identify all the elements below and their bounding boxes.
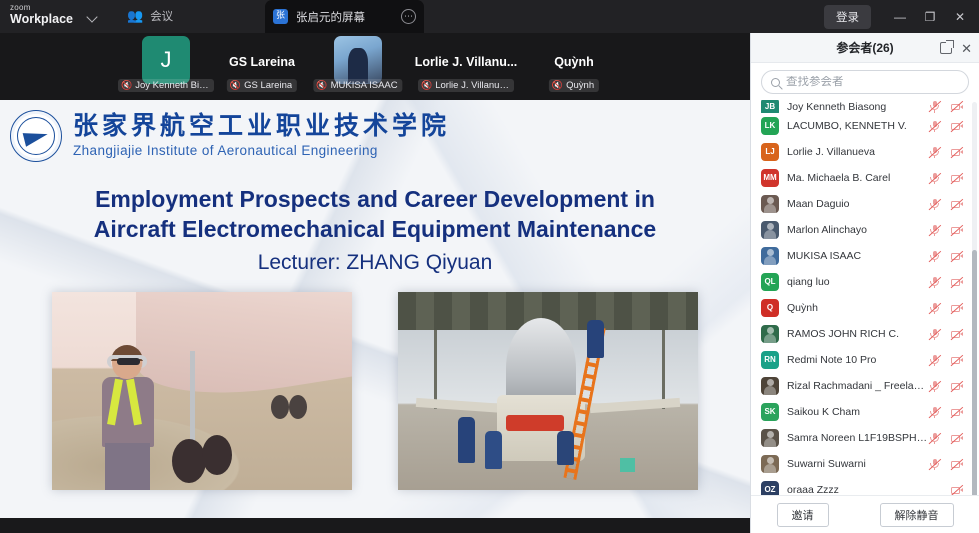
participant-status-icons	[928, 100, 971, 113]
participant-status-icons	[928, 302, 971, 315]
participant-status-icons	[950, 484, 971, 496]
microphone-muted-icon: 🔇	[230, 81, 241, 90]
worker-legs	[105, 443, 150, 490]
participant-name: MUKISA ISAAC	[331, 80, 398, 91]
participant-status-icons	[928, 120, 971, 133]
participant-name: Samra Noreen L1F19BSPH0007	[787, 432, 928, 444]
participants-panel-footer: 邀请 解除静音	[751, 495, 979, 533]
list-item[interactable]: MM Ma. Michaela B. Carel	[751, 165, 979, 191]
camera-off-icon[interactable]	[950, 198, 963, 211]
participant-name: LACUMBO, KENNETH V.	[787, 120, 928, 132]
list-item[interactable]: Rizal Rachmadani _ Freelance	[751, 373, 979, 399]
microphone-muted-icon[interactable]	[928, 458, 941, 471]
slide-header: 张家界航空工业职业技术学院 Zhangjiajie Institute of A…	[10, 110, 450, 162]
participant-name: qiang luo	[787, 276, 928, 288]
brand-top-label: zoom	[10, 4, 73, 12]
participant-display-name: Lorlie J. Villanu...	[408, 55, 524, 69]
technician	[485, 431, 502, 469]
camera-off-icon[interactable]	[950, 328, 963, 341]
participant-status-icons	[928, 432, 971, 445]
wheel	[289, 395, 307, 419]
participant-display-name: Quỳnh	[528, 55, 620, 69]
brand-bottom-label: Workplace	[10, 13, 73, 26]
technician	[557, 431, 574, 465]
name-tag: 🔇 GS Lareina	[227, 79, 297, 92]
list-item[interactable]: MUKISA ISAAC	[751, 243, 979, 269]
camera-off-icon[interactable]	[950, 380, 963, 393]
microphone-muted-icon[interactable]	[928, 172, 941, 185]
participant-name: Quỳnh	[566, 80, 594, 91]
hangar-beam	[434, 330, 437, 409]
camera-off-icon[interactable]	[950, 172, 963, 185]
slide-photos	[0, 292, 750, 490]
microphone-muted-icon[interactable]	[928, 406, 941, 419]
participant-name: MUKISA ISAAC	[787, 250, 928, 262]
share-tab-label: 张启元的屏幕	[296, 9, 401, 25]
technician	[587, 320, 604, 358]
video-tile[interactable]: Lorlie J. Villanu... 🔇 Lorlie J. Villanu…	[408, 33, 524, 95]
shared-screen-slide: 张家界航空工业职业技术学院 Zhangjiajie Institute of A…	[0, 100, 750, 518]
camera-off-icon[interactable]	[950, 224, 963, 237]
school-name-english: Zhangjiajie Institute of Aeronautical En…	[73, 143, 450, 158]
video-tile[interactable]: 🔇 MUKISA ISAAC	[312, 33, 404, 95]
avatar	[761, 455, 779, 473]
list-item[interactable]: SK Saikou K Cham	[751, 399, 979, 425]
participants-search-wrapper	[751, 63, 979, 100]
participant-name: Lorlie J. Villanueva	[787, 146, 928, 158]
minimize-icon[interactable]: —	[885, 0, 915, 33]
microphone-muted-icon[interactable]	[928, 120, 941, 133]
microphone-muted-icon[interactable]	[928, 100, 941, 113]
name-tag: 🔇 MUKISA ISAAC	[313, 79, 402, 92]
avatar	[761, 221, 779, 239]
participants-panel: 参会者(26) ✕ JB Joy Kenneth Biasong	[750, 33, 979, 533]
search-input[interactable]	[786, 76, 959, 88]
participants-search-box[interactable]	[761, 70, 969, 94]
avatar: J	[142, 36, 190, 84]
invite-button[interactable]: 邀请	[777, 503, 829, 527]
school-name-chinese: 张家界航空工业职业技术学院	[73, 114, 450, 140]
camera-off-icon[interactable]	[950, 146, 963, 159]
titlebar-right: 登录 — ❐ ✕	[824, 0, 979, 33]
camera-off-icon[interactable]	[950, 484, 963, 496]
avatar: QL	[761, 273, 779, 291]
school-seal-logo-icon	[10, 110, 62, 162]
participant-status-icons	[928, 224, 971, 237]
participants-panel-header: 参会者(26) ✕	[751, 33, 979, 63]
zoom-meeting-window: zoom Workplace 👥 会议 张 张启元的屏幕 ⋯ 登录 — ❐ ✕ …	[0, 0, 979, 533]
microphone-muted-icon[interactable]	[928, 146, 941, 159]
microphone-muted-icon: 🔇	[421, 81, 432, 90]
participant-name: Saikou K Cham	[787, 406, 928, 418]
slide-title-line1: Employment Prospects and Career Developm…	[0, 184, 750, 214]
camera-off-icon[interactable]	[950, 354, 963, 367]
participant-name: Quỳnh	[787, 302, 928, 314]
wheel	[271, 395, 289, 419]
participant-name: Suwarni Suwarni	[787, 458, 928, 470]
list-item[interactable]: Samra Noreen L1F19BSPH0007	[751, 425, 979, 451]
aircraft-ground-crew-photo	[52, 292, 352, 490]
avatar	[761, 247, 779, 265]
camera-off-icon[interactable]	[950, 120, 963, 133]
microphone-muted-icon[interactable]	[928, 224, 941, 237]
video-tile[interactable]: J 🔇 Joy Kenneth Biasong	[120, 33, 212, 95]
close-icon[interactable]: ✕	[945, 0, 975, 33]
video-tiles: J 🔇 Joy Kenneth Biasong GS Lareina 🔇 GS …	[0, 33, 750, 100]
camera-off-icon[interactable]	[950, 458, 963, 471]
list-item[interactable]: RN Redmi Note 10 Pro	[751, 347, 979, 373]
participant-status-icons	[928, 198, 971, 211]
participant-name: Lorlie J. Villanueva	[435, 80, 509, 91]
participant-name: Rizal Rachmadani _ Freelance	[787, 380, 928, 392]
airplane-underside	[136, 292, 352, 411]
list-item[interactable]: LJ Lorlie J. Villanueva	[751, 139, 979, 165]
microphone-muted-icon[interactable]	[928, 432, 941, 445]
participant-name: Joy Kenneth Biasong	[135, 80, 209, 91]
slide-lecturer: Lecturer: ZHANG Qiyuan	[0, 247, 750, 279]
microphone-muted-icon[interactable]	[928, 354, 941, 367]
participant-status-icons	[928, 328, 971, 341]
participant-name: Marlon Alinchayo	[787, 224, 928, 236]
microphone-muted-icon: 🔇	[316, 81, 327, 90]
more-horizontal-icon[interactable]: ⋯	[401, 9, 416, 24]
participant-name: GS Lareina	[244, 80, 292, 91]
participant-display-name: GS Lareina	[216, 55, 308, 69]
participant-status-icons	[928, 458, 971, 471]
participant-name: Joy Kenneth Biasong	[787, 101, 928, 113]
titlebar-left: zoom Workplace 👥 会议	[0, 0, 173, 33]
avatar	[761, 429, 779, 447]
panel-header-icons: ✕	[940, 33, 972, 63]
avatar: JB	[761, 100, 779, 113]
camera-off-icon[interactable]	[950, 250, 963, 263]
technician	[458, 417, 475, 463]
people-group-icon: 👥	[127, 9, 143, 22]
list-item[interactable]: OZ oraaa Zzzz	[751, 477, 979, 495]
jet-red-panel	[506, 415, 564, 431]
microphone-muted-icon[interactable]	[928, 276, 941, 289]
microphone-muted-icon[interactable]	[928, 380, 941, 393]
hangar-beam	[662, 330, 665, 409]
jet-wing-right	[590, 398, 680, 413]
participant-name: RAMOS JOHN RICH C.	[787, 328, 928, 340]
avatar: OZ	[761, 481, 779, 495]
participant-status-icons	[928, 172, 971, 185]
participant-status-icons	[928, 354, 971, 367]
participant-video-thumbnail	[334, 36, 382, 84]
name-tag: 🔇 Lorlie J. Villanueva	[418, 79, 514, 92]
school-name-block: 张家界航空工业职业技术学院 Zhangjiajie Institute of A…	[73, 114, 450, 158]
share-tab-favicon: 张	[273, 9, 288, 24]
avatar	[761, 325, 779, 343]
slide-title: Employment Prospects and Career Developm…	[0, 184, 750, 278]
avatar	[761, 377, 779, 395]
wheel	[202, 435, 232, 475]
camera-off-icon[interactable]	[950, 432, 963, 445]
microphone-muted-icon[interactable]	[928, 250, 941, 263]
list-item[interactable]: QL qiang luo	[751, 269, 979, 295]
microphone-muted-icon[interactable]	[928, 328, 941, 341]
participants-list[interactable]: JB Joy Kenneth Biasong LK LACUMBO, KENNE…	[751, 100, 979, 495]
participant-status-icons	[928, 146, 971, 159]
avatar: MM	[761, 169, 779, 187]
camera-off-icon[interactable]	[950, 100, 963, 113]
close-icon[interactable]: ✕	[961, 42, 972, 55]
video-thumbnail-strip: J 🔇 Joy Kenneth Biasong GS Lareina 🔇 GS …	[0, 33, 750, 100]
list-item[interactable]: Q Quỳnh	[751, 295, 979, 321]
video-tile[interactable]: Quỳnh 🔇 Quỳnh	[528, 33, 620, 95]
list-item[interactable]: Suwarni Suwarni	[751, 451, 979, 477]
avatar: Q	[761, 299, 779, 317]
ground-crew-worker	[94, 347, 164, 486]
chevron-down-icon[interactable]	[87, 11, 99, 23]
avatar: RN	[761, 351, 779, 369]
screen-share-tab[interactable]: 张 张启元的屏幕 ⋯	[265, 0, 424, 33]
meetings-nav-item[interactable]: 👥 会议	[127, 8, 173, 26]
search-icon	[771, 78, 780, 87]
participants-scrollbar-thumb[interactable]	[972, 250, 977, 495]
avatar: LJ	[761, 143, 779, 161]
popout-icon[interactable]	[940, 42, 952, 54]
list-item[interactable]: JB Joy Kenneth Biasong	[751, 100, 979, 113]
title-bar: zoom Workplace 👥 会议 张 张启元的屏幕 ⋯ 登录 — ❐ ✕	[0, 0, 979, 33]
slide-title-line2: Aircraft Electromechanical Equipment Mai…	[0, 214, 750, 244]
participant-name: oraaa Zzzz	[787, 484, 950, 495]
camera-off-icon[interactable]	[950, 302, 963, 315]
bottom-letterbox	[0, 518, 750, 533]
green-stool	[620, 458, 635, 472]
list-item[interactable]: Maan Daguio	[751, 191, 979, 217]
unmute-button[interactable]: 解除静音	[880, 503, 954, 527]
participant-name: Redmi Note 10 Pro	[787, 354, 928, 366]
microphone-muted-icon: 🔇	[121, 81, 132, 90]
list-item[interactable]: Marlon Alinchayo	[751, 217, 979, 243]
jet-wing-left	[416, 398, 506, 413]
participant-name: Maan Daguio	[787, 198, 928, 210]
avatar: SK	[761, 403, 779, 421]
login-button[interactable]: 登录	[824, 5, 871, 29]
list-item[interactable]: LK LACUMBO, KENNETH V.	[751, 113, 979, 139]
name-tag: 🔇 Joy Kenneth Biasong	[118, 79, 214, 92]
participant-status-icons	[928, 406, 971, 419]
meetings-label: 会议	[150, 8, 173, 24]
wheel	[172, 439, 206, 483]
participant-name: Ma. Michaela B. Carel	[787, 172, 928, 184]
avatar: LK	[761, 117, 779, 135]
avatar	[761, 195, 779, 213]
video-tile[interactable]: GS Lareina 🔇 GS Lareina	[216, 33, 308, 95]
name-tag: 🔇 Quỳnh	[549, 79, 599, 92]
participants-title: 参会者(26)	[836, 39, 893, 56]
camera-off-icon[interactable]	[950, 406, 963, 419]
zoom-workplace-logo: zoom Workplace	[10, 4, 73, 29]
camera-off-icon[interactable]	[950, 276, 963, 289]
sunglasses	[117, 358, 140, 365]
participant-status-icons	[928, 276, 971, 289]
participant-status-icons	[928, 380, 971, 393]
participant-status-icons	[928, 250, 971, 263]
microphone-muted-icon[interactable]	[928, 302, 941, 315]
microphone-muted-icon[interactable]	[928, 198, 941, 211]
microphone-muted-icon: 🔇	[552, 81, 563, 90]
fighter-jet-maintenance-hangar-photo	[398, 292, 698, 490]
maximize-icon[interactable]: ❐	[915, 0, 945, 33]
list-item[interactable]: RAMOS JOHN RICH C.	[751, 321, 979, 347]
